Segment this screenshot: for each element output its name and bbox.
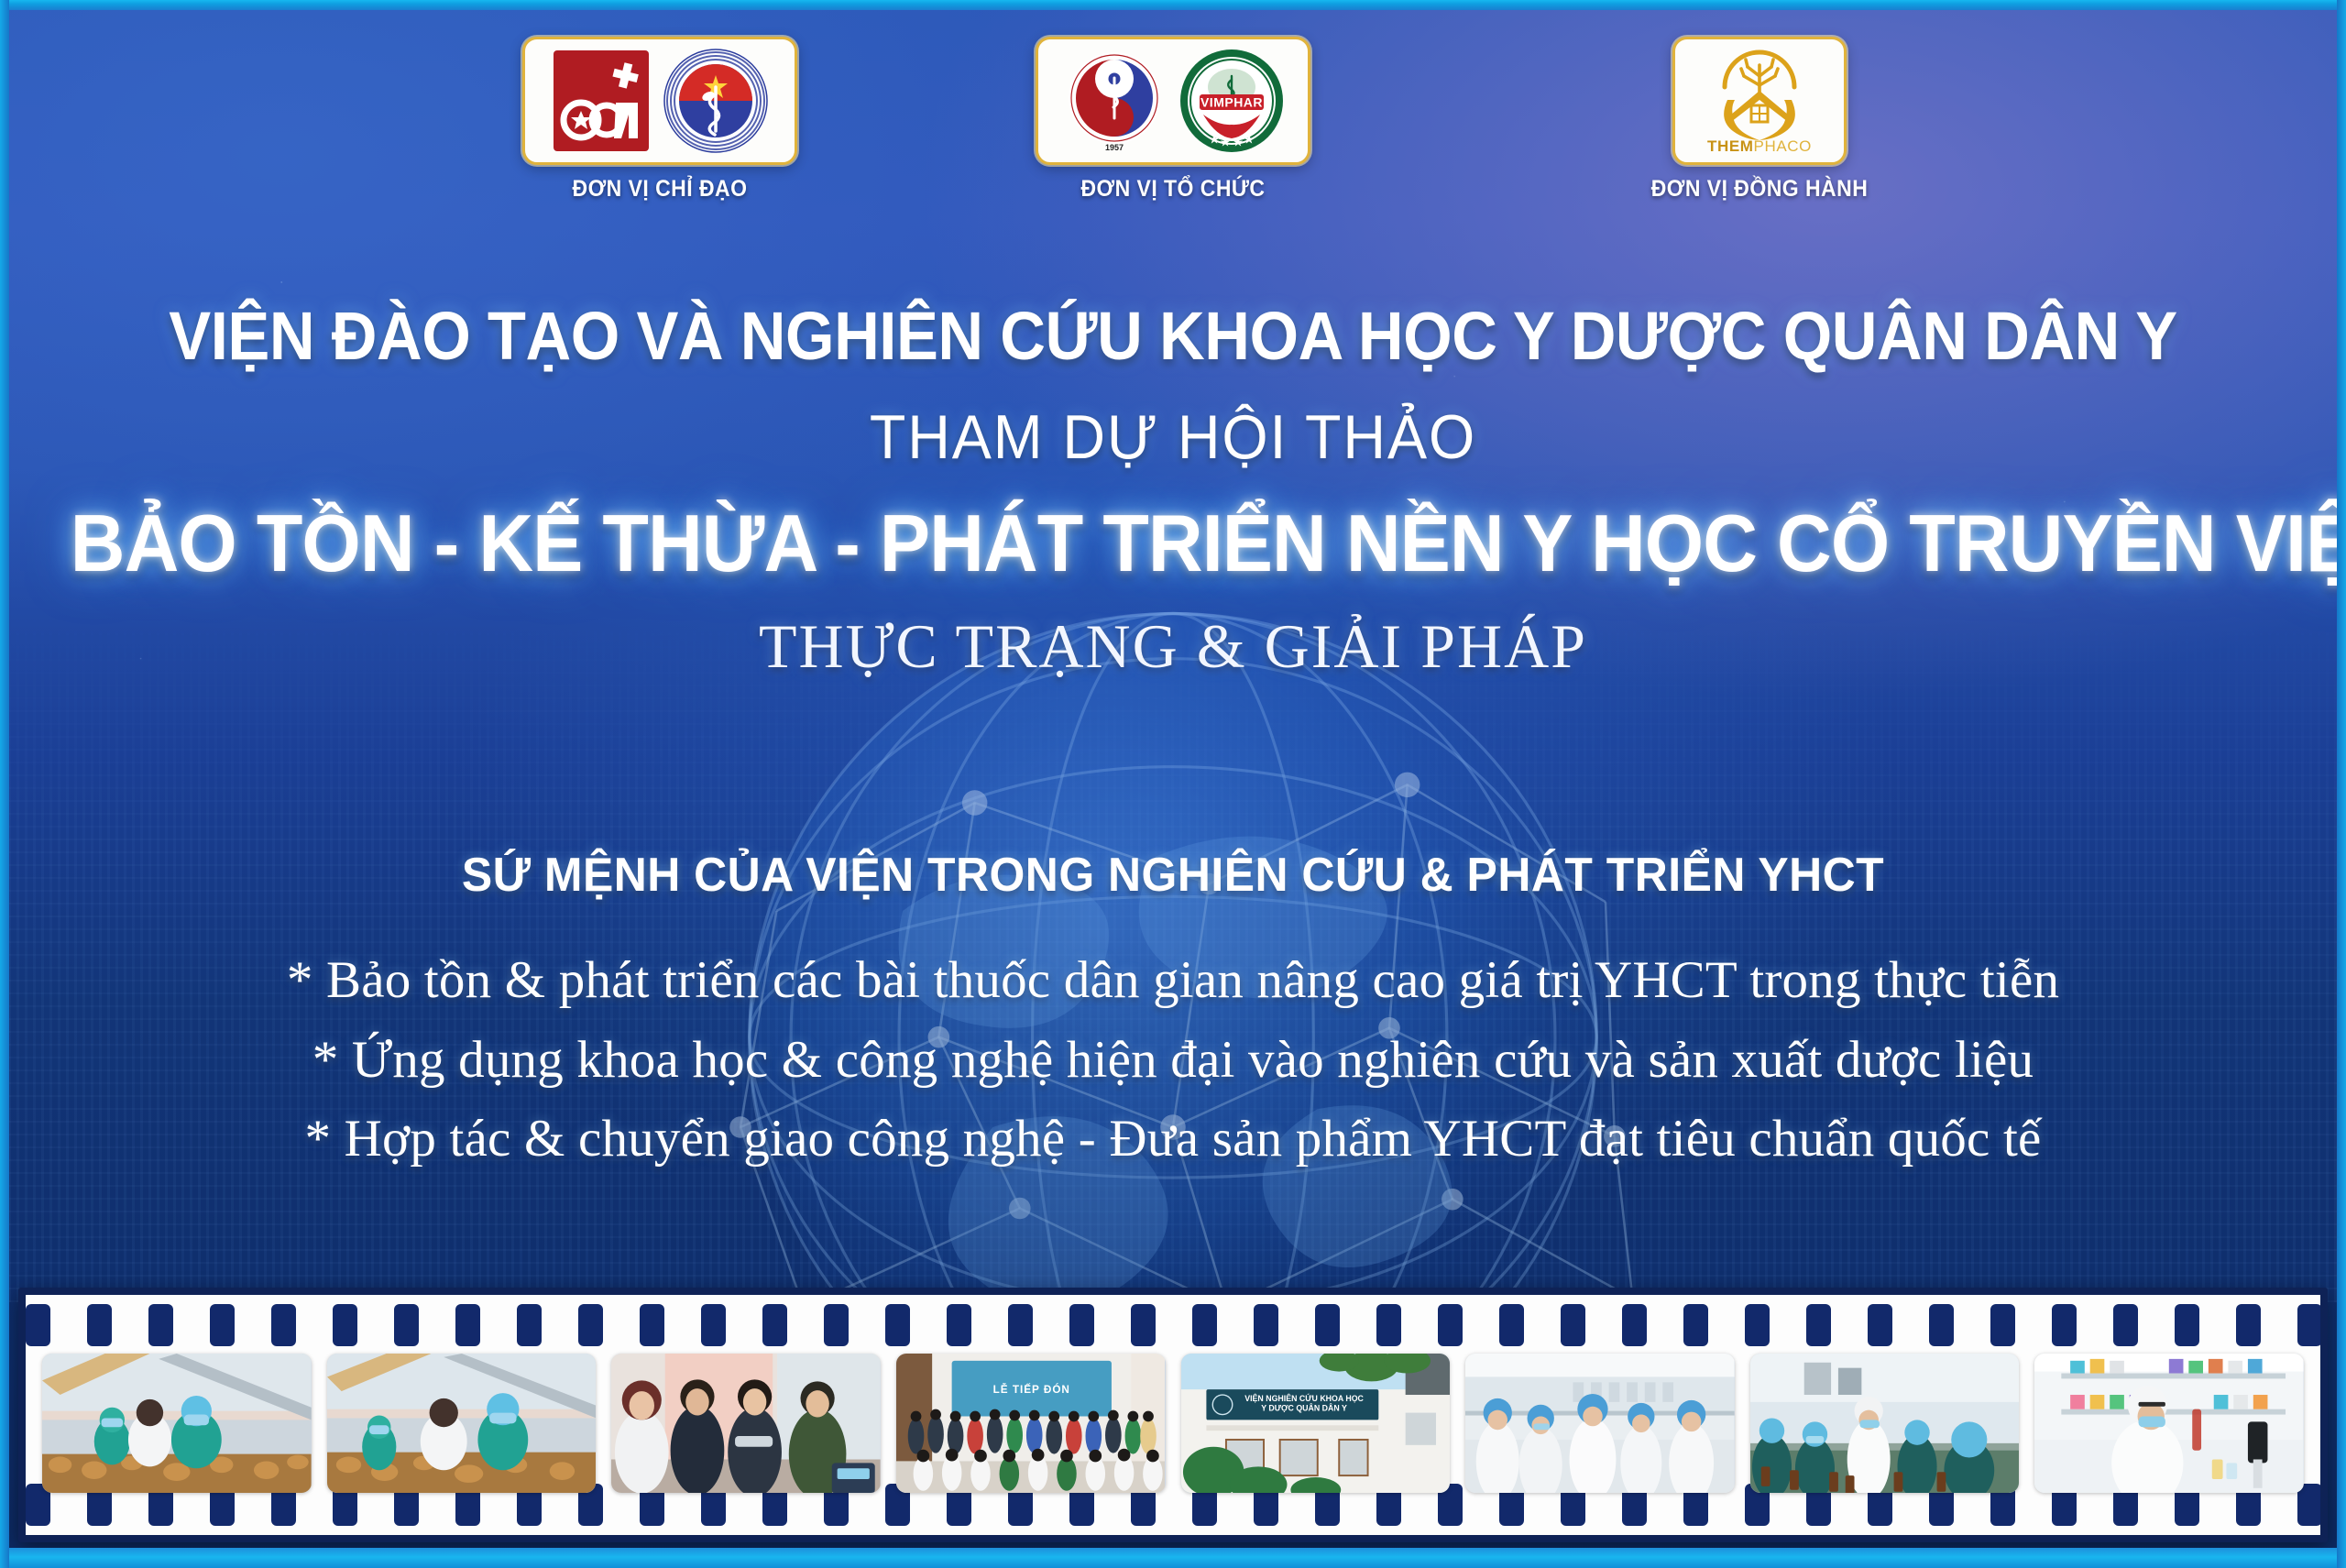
sprocket-hole [1745, 1304, 1770, 1346]
mission-bullet: * Ứng dụng khoa học & công nghệ hiện đại… [0, 1021, 2346, 1101]
sprocket-hole [394, 1304, 419, 1346]
mission-bullet: * Hợp tác & chuyển giao công nghệ - Đưa … [0, 1100, 2346, 1179]
photo-group-ceremony[interactable]: LỄ TIẾP ĐÓN [896, 1354, 1166, 1493]
equipment-handover-photo [611, 1354, 881, 1493]
poster-border-bottom [0, 1548, 2346, 1568]
attend-line: THAM DỰ HỘI THẢO [59, 401, 2287, 473]
institute-building-photo: VIỆN NGHIÊN CỨU KHOA HỌC Y DƯỢC QUÂN DÂN… [1181, 1354, 1451, 1493]
sprocket-hole [1376, 1304, 1401, 1346]
sprocket-hole [1192, 1304, 1217, 1346]
sprocket-hole [1499, 1304, 1524, 1346]
vimphar-emblem-icon: VIMPHAR [1178, 47, 1286, 155]
heading-block: VIỆN ĐÀO TẠO VÀ NGHIÊN CỨU KHOA HỌC Y DƯ… [0, 302, 2346, 683]
logo-caption-partner: ĐƠN VỊ ĐỒNG HÀNH [1625, 176, 1894, 203]
subtitle: THỰC TRẠNG & GIẢI PHÁP [0, 610, 2346, 683]
photo-herb-drying-inspection-2[interactable] [327, 1354, 597, 1493]
logo-caption-directing: ĐƠN VỊ CHỈ ĐẠO [525, 176, 795, 203]
poster-border-top [0, 0, 2346, 10]
sprocket-hole [2113, 1304, 2138, 1346]
sprocket-hole [517, 1304, 542, 1346]
logo-card-directing [522, 37, 797, 165]
herb-drying-photo-1 [42, 1354, 312, 1493]
sprocket-hole [1254, 1304, 1278, 1346]
sponsor-logo-row: ĐƠN VỊ CHỈ ĐẠO 1957 [0, 37, 2346, 238]
sprocket-hole [1561, 1304, 1585, 1346]
sprocket-holes-top [26, 1304, 2320, 1346]
sprocket-hole [762, 1304, 787, 1346]
photo-equipment-handover[interactable] [611, 1354, 881, 1493]
logo-caption-organizing: ĐƠN VỊ TỔ CHỨC [1038, 176, 1308, 203]
mission-title: SỨ MỆNH CỦA VIỆN TRONG NGHIÊN CỨU & PHÁT… [47, 848, 2299, 903]
svg-text:1957: 1957 [1105, 143, 1124, 152]
sprocket-hole [1131, 1304, 1156, 1346]
svg-text:Y DƯỢC QUÂN DÂN Y: Y DƯỢC QUÂN DÂN Y [1261, 1403, 1347, 1413]
conference-poster: ĐƠN VỊ CHỈ ĐẠO 1957 [0, 0, 2346, 1568]
svg-text:VIỆN NGHIÊN CỨU KHOA HỌC: VIỆN NGHIÊN CỨU KHOA HỌC [1244, 1393, 1364, 1403]
sprocket-hole [1315, 1304, 1340, 1346]
sprocket-hole [1868, 1304, 1892, 1346]
herb-drying-photo-2 [327, 1354, 597, 1493]
logo-group-directing-unit: ĐƠN VỊ CHỈ ĐẠO [513, 37, 806, 203]
sprocket-hole [2175, 1304, 2199, 1346]
sprocket-hole [578, 1304, 603, 1346]
lab-team-photo [1465, 1354, 1735, 1493]
main-title: BẢO TỒN - KẾ THỪA - PHÁT TRIỂN NỀN Y HỌC… [71, 497, 2275, 590]
logo-group-partner-unit: THEMPHACO ĐƠN VỊ ĐỒNG HÀNH [1613, 37, 1906, 203]
photo-herb-drying-inspection-1[interactable] [42, 1354, 312, 1493]
sprocket-hole [1069, 1304, 1094, 1346]
traditional-medicine-administration-emblem-icon: 1957 [1060, 47, 1168, 155]
mission-bullet: * Bảo tồn & phát triển các bài thuốc dân… [0, 941, 2346, 1021]
sprocket-hole [2236, 1304, 2261, 1346]
sprocket-hole [87, 1304, 112, 1346]
qdy-emblem-icon [550, 47, 652, 155]
sprocket-hole [1438, 1304, 1463, 1346]
themphaco-emblem-icon: THEMPHACO [1691, 45, 1828, 157]
photo-institute-building[interactable]: VIỆN NGHIÊN CỨU KHOA HỌC Y DƯỢC QUÂN DÂN… [1181, 1354, 1451, 1493]
sprocket-hole [1806, 1304, 1831, 1346]
sprocket-hole [640, 1304, 664, 1346]
sprocket-hole [701, 1304, 726, 1346]
sprocket-hole [2297, 1304, 2322, 1346]
sprocket-hole [1929, 1304, 1954, 1346]
mission-block: SỨ MỆNH CỦA VIỆN TRONG NGHIÊN CỨU & PHÁT… [0, 848, 2346, 1179]
svg-text:VIMPHAR: VIMPHAR [1200, 95, 1263, 110]
sprocket-hole [885, 1304, 910, 1346]
lab-technician-photo [2034, 1354, 2304, 1493]
ministry-of-health-emblem-icon [662, 47, 770, 155]
sprocket-hole [1683, 1304, 1708, 1346]
sprocket-hole [455, 1304, 480, 1346]
photo-lab-team-discussion[interactable] [1465, 1354, 1735, 1493]
sprocket-hole [947, 1304, 971, 1346]
svg-text:THEMPHACO: THEMPHACO [1707, 137, 1812, 155]
sprocket-hole [148, 1304, 173, 1346]
sprocket-hole [271, 1304, 296, 1346]
sprocket-hole [333, 1304, 357, 1346]
mission-bullet-list: * Bảo tồn & phát triển các bài thuốc dân… [0, 941, 2346, 1179]
svg-text:LỄ TIẾP ĐÓN: LỄ TIẾP ĐÓN [993, 1384, 1070, 1396]
photo-lab-technician-vial[interactable] [2034, 1354, 2304, 1493]
institute-name: VIỆN ĐÀO TẠO VÀ NGHIÊN CỨU KHOA HỌC Y DƯ… [82, 302, 2264, 370]
logo-group-organizing-unit: 1957 VIMPHAR [1026, 37, 1320, 203]
sprocket-hole [26, 1304, 50, 1346]
sprocket-hole [824, 1304, 849, 1346]
filmstrip: LỄ TIẾP ĐÓN [18, 1288, 2328, 1542]
sprocket-hole [1622, 1304, 1647, 1346]
group-ceremony-photo: LỄ TIẾP ĐÓN [896, 1354, 1166, 1493]
production-line-photo [1750, 1354, 2020, 1493]
photo-production-line[interactable] [1750, 1354, 2020, 1493]
sprocket-hole [1990, 1304, 2015, 1346]
photo-frames: LỄ TIẾP ĐÓN [42, 1354, 2304, 1493]
logo-card-organizing: 1957 VIMPHAR [1036, 37, 1310, 165]
logo-card-partner: THEMPHACO [1672, 37, 1847, 165]
sprocket-hole [2052, 1304, 2077, 1346]
sprocket-hole [1008, 1304, 1033, 1346]
sprocket-hole [210, 1304, 235, 1346]
